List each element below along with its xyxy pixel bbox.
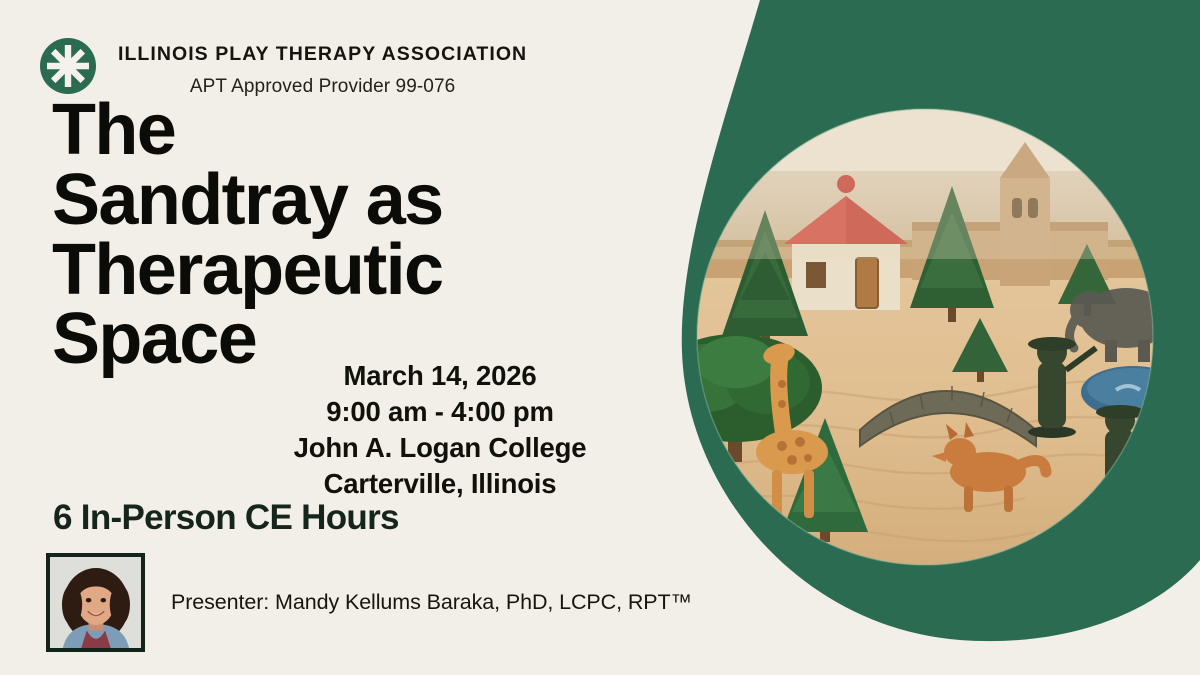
event-time: 9:00 am - 4:00 pm xyxy=(275,394,605,430)
asterisk-starburst-icon xyxy=(40,38,96,94)
organization-header: ILLINOIS PLAY THERAPY ASSOCIATION APT Ap… xyxy=(40,38,527,96)
title-line-3: Therapeutic xyxy=(52,236,572,306)
organization-name: ILLINOIS PLAY THERAPY ASSOCIATION xyxy=(118,45,527,65)
title-line-2: Sandtray as xyxy=(52,166,572,236)
event-venue: John A. Logan College xyxy=(275,430,605,466)
event-details: March 14, 2026 9:00 am - 4:00 pm John A.… xyxy=(275,358,605,502)
event-location: Carterville, Illinois xyxy=(275,466,605,502)
presenter-headshot xyxy=(46,553,145,652)
page-title: The Sandtray as Therapeutic Space xyxy=(52,96,572,375)
title-line-1: The xyxy=(52,96,572,166)
ce-hours-badge: 6 In-Person CE Hours xyxy=(53,500,399,535)
presenter-name: Presenter: Mandy Kellums Baraka, PhD, LC… xyxy=(171,590,692,615)
accreditation-text: APT Approved Provider 99-076 xyxy=(118,77,527,96)
event-date: March 14, 2026 xyxy=(275,358,605,394)
flyer-canvas: ILLINOIS PLAY THERAPY ASSOCIATION APT Ap… xyxy=(0,0,1200,675)
presenter-block: Presenter: Mandy Kellums Baraka, PhD, LC… xyxy=(46,553,692,652)
